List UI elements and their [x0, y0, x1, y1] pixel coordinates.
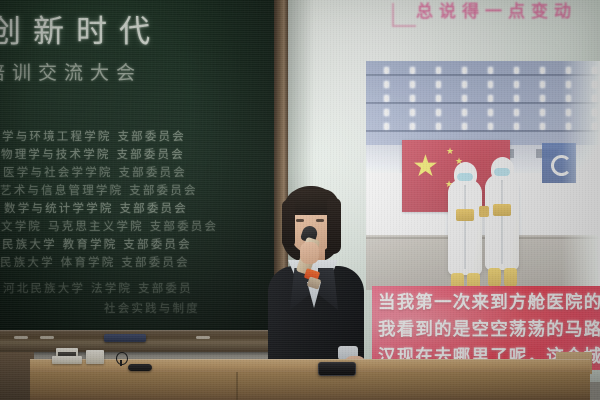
presenter-eyebrow-left — [295, 213, 305, 215]
podium-surface — [30, 359, 590, 373]
subtitle-line: 我看到的是空空荡荡的马路 — [378, 316, 600, 341]
chalk-box-small[interactable] — [86, 350, 104, 364]
slide-photo: ★ ★ ★ ★ ★ — [366, 61, 600, 290]
tray-chalk-stick — [40, 336, 54, 339]
podium-panel-seam — [236, 372, 238, 400]
board-eraser — [104, 334, 146, 342]
presenter-eye-right — [316, 219, 324, 222]
blackboard-frame: 创新时代 培训交流大会 学与环境工程学院 支部委员会 物理学与技术学院 支部委员… — [0, 0, 288, 352]
photo-right-fade — [562, 61, 600, 290]
slide-handwritten-annotation: 总说得一点变动 — [416, 0, 586, 19]
cable-tail — [120, 360, 122, 366]
tray-chalk-stick — [196, 336, 210, 339]
presenter-eye-left — [296, 219, 304, 222]
podium-front-panel — [30, 372, 590, 400]
screenshot-root: 创新时代 培训交流大会 学与环境工程学院 支部委员会 物理学与技术学院 支部委员… — [0, 0, 600, 400]
blackboard-vignette — [0, 0, 274, 330]
chalk-box-lower[interactable] — [52, 356, 82, 364]
presenter-hand-holding-mic — [300, 242, 319, 264]
podium-left-shadow — [0, 352, 34, 400]
annotation-bracket-icon — [392, 3, 416, 27]
presenter-eyebrow-right — [315, 213, 325, 215]
smartphone[interactable] — [318, 362, 356, 376]
blackboard-surface: 创新时代 培训交流大会 学与环境工程学院 支部委员会 物理学与技术学院 支部委员… — [0, 0, 274, 330]
presenter-hair-side-left — [282, 200, 295, 248]
presenter — [252, 186, 380, 386]
presenter-hair-side-right — [327, 198, 341, 254]
cable-loop — [116, 352, 128, 365]
subtitle-line: 当我第一次来到方舱医院的 — [378, 289, 600, 314]
tray-chalk-stick — [14, 336, 28, 339]
presentation-clicker[interactable] — [128, 364, 152, 371]
